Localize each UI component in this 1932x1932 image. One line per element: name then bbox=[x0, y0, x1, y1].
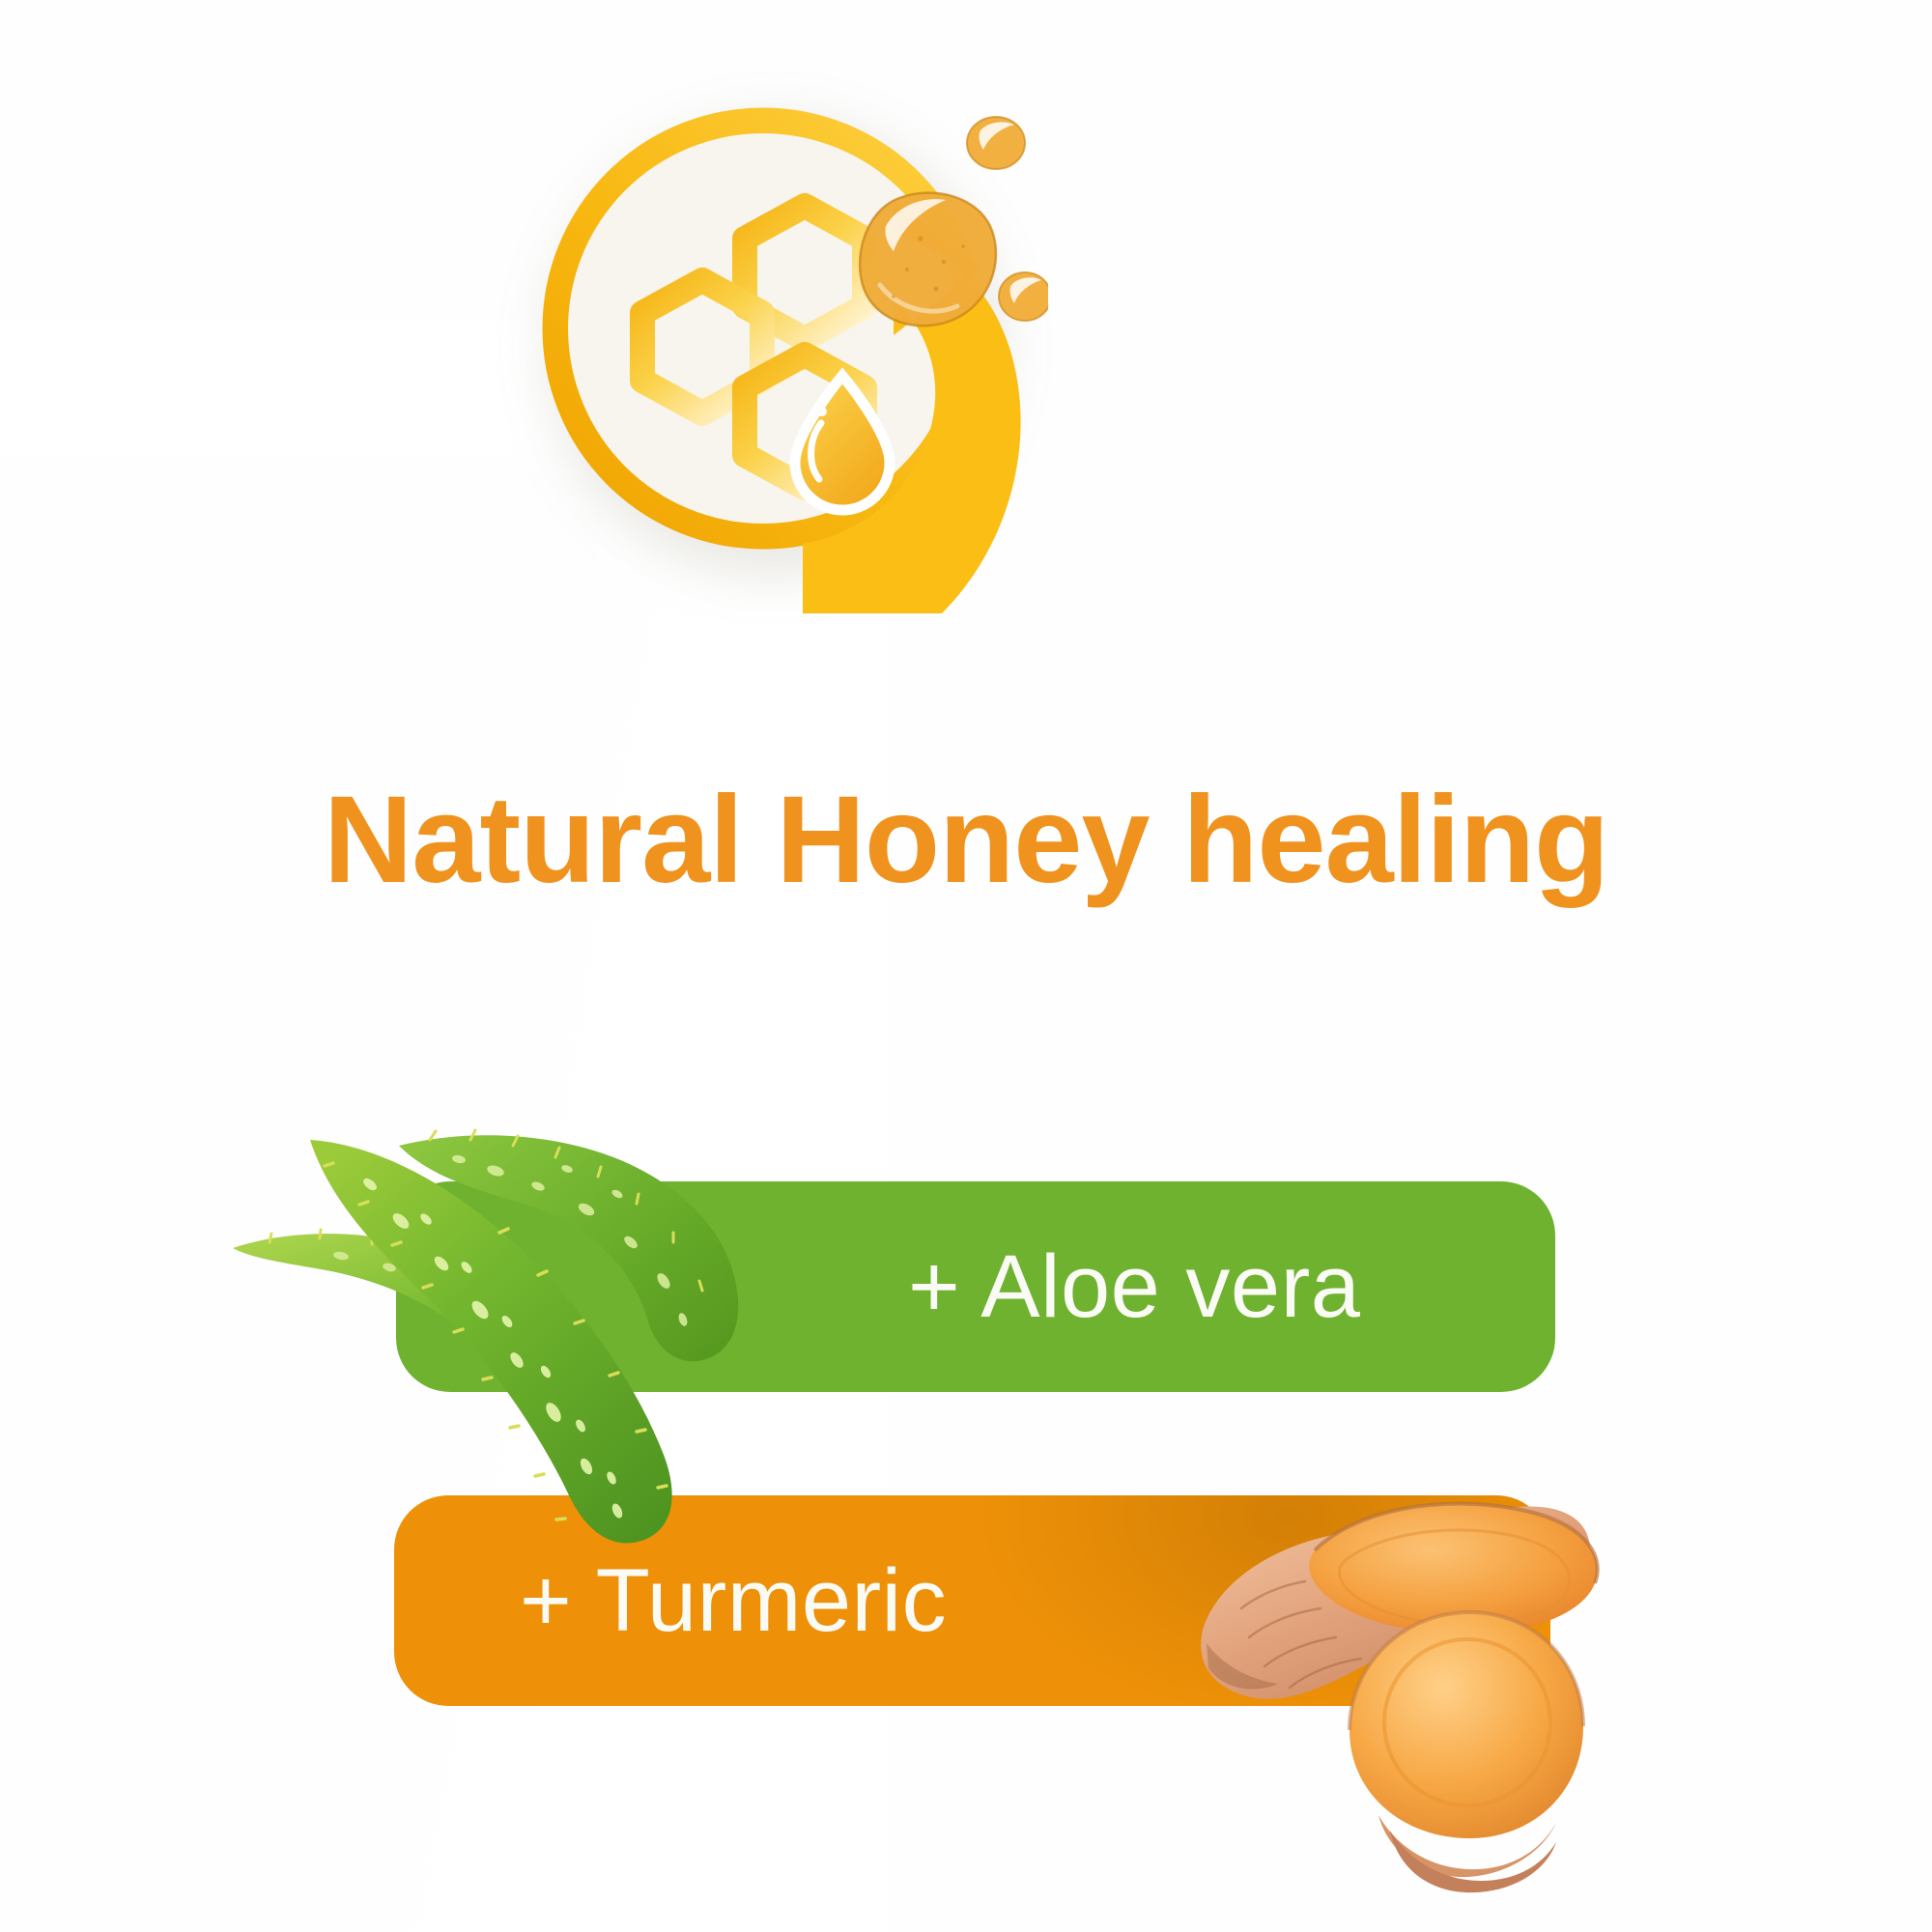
honey-drop-small-top bbox=[967, 117, 1025, 169]
ingredient-label-turmeric: + Turmeric bbox=[520, 1550, 947, 1652]
honey-drop-small-right bbox=[999, 272, 1048, 321]
honey-drop-large bbox=[860, 193, 996, 327]
honey-healing-badge bbox=[526, 92, 1048, 613]
marketing-graphic-canvas: Natural Honey healing + Aloe vera + Turm… bbox=[0, 0, 1932, 1932]
ingredient-label-aloe-vera: + Aloe vera bbox=[908, 1236, 1360, 1338]
turmeric-slice-round bbox=[1350, 1612, 1583, 1892]
aloe-vera-leaves-photo bbox=[227, 1101, 855, 1546]
page-title: Natural Honey healing bbox=[0, 763, 1932, 918]
turmeric-root-photo bbox=[1174, 1406, 1637, 1908]
